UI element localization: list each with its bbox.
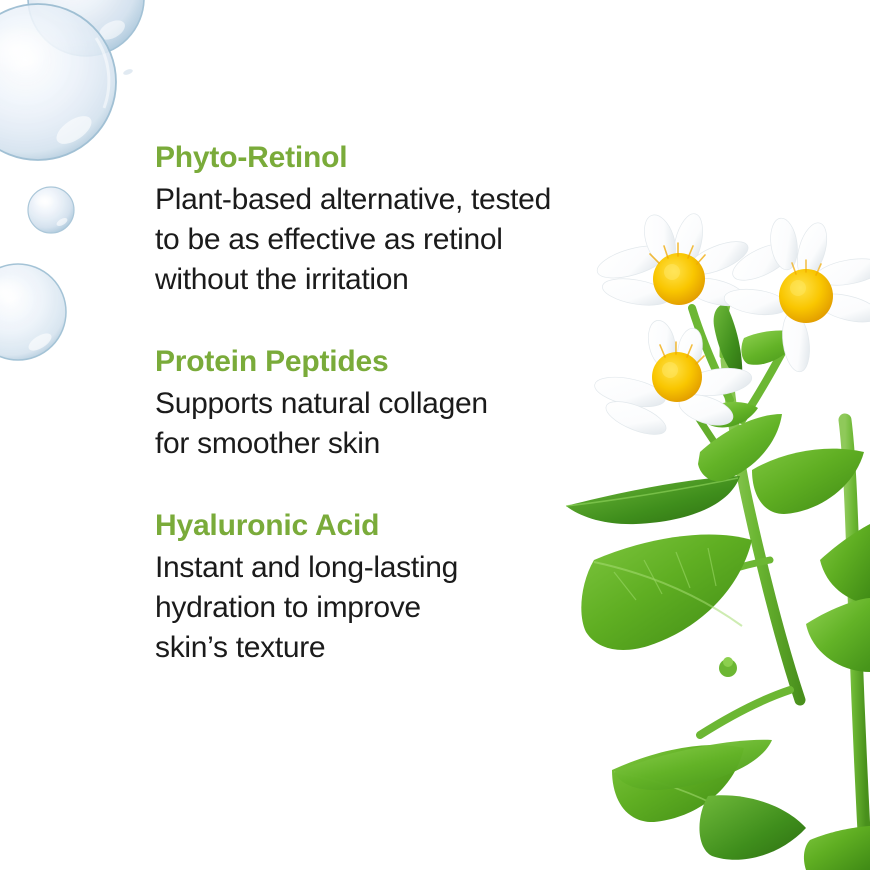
desc-line: for smoother skin	[155, 424, 675, 464]
bubble-medium-left-icon	[0, 264, 66, 360]
bubble-small-icon	[28, 187, 74, 233]
leaf-upper-right	[752, 449, 864, 514]
desc-line: without the irritation	[155, 260, 675, 300]
leaf-bottom-right	[804, 826, 870, 870]
ingredient-title-phyto-retinol: Phyto-Retinol	[155, 138, 675, 178]
ingredient-desc-phyto-retinol: Plant-based alternative, tested to be as…	[155, 180, 675, 300]
desc-line: to be as effective as retinol	[155, 220, 675, 260]
ingredient-block-hyaluronic-acid: Hyaluronic Acid Instant and long-lasting…	[155, 506, 675, 668]
flower-bud	[719, 657, 737, 677]
leaf-bottom-narrow	[614, 740, 772, 790]
bubble-speck-icon	[122, 68, 133, 76]
ingredient-block-phyto-retinol: Phyto-Retinol Plant-based alternative, t…	[155, 138, 675, 300]
leaf-bottom-hang	[699, 795, 806, 860]
infographic-canvas: Phyto-Retinol Plant-based alternative, t…	[0, 0, 870, 870]
leaf-upper-mid	[698, 414, 782, 481]
ingredient-title-protein-peptides: Protein Peptides	[155, 342, 675, 382]
bubble-large-top-icon	[28, 0, 144, 56]
leaf-vertical-slim	[714, 304, 743, 382]
desc-line: skin’s texture	[155, 628, 675, 668]
ingredient-desc-protein-peptides: Supports natural collagen for smoother s…	[155, 384, 675, 464]
desc-line: hydration to improve	[155, 588, 675, 628]
bubble-large-left-icon	[0, 4, 116, 160]
leaf-small-upper	[741, 331, 802, 365]
flower-upper-right-icon	[723, 216, 870, 373]
ingredient-desc-hyaluronic-acid: Instant and long-lasting hydration to im…	[155, 548, 675, 668]
leaf-right-edge-upper	[820, 524, 870, 604]
leaflet-near-flowers	[703, 402, 758, 427]
desc-line: Supports natural collagen	[155, 384, 675, 424]
ingredient-list: Phyto-Retinol Plant-based alternative, t…	[155, 138, 675, 668]
ingredient-title-hyaluronic-acid: Hyaluronic Acid	[155, 506, 675, 546]
plant-stems	[655, 296, 866, 870]
ingredient-block-protein-peptides: Protein Peptides Supports natural collag…	[155, 342, 675, 464]
leaf-right-edge-mid	[806, 598, 870, 672]
leaf-lower-left	[612, 745, 744, 822]
desc-line: Instant and long-lasting	[155, 548, 675, 588]
desc-line: Plant-based alternative, tested	[155, 180, 675, 220]
